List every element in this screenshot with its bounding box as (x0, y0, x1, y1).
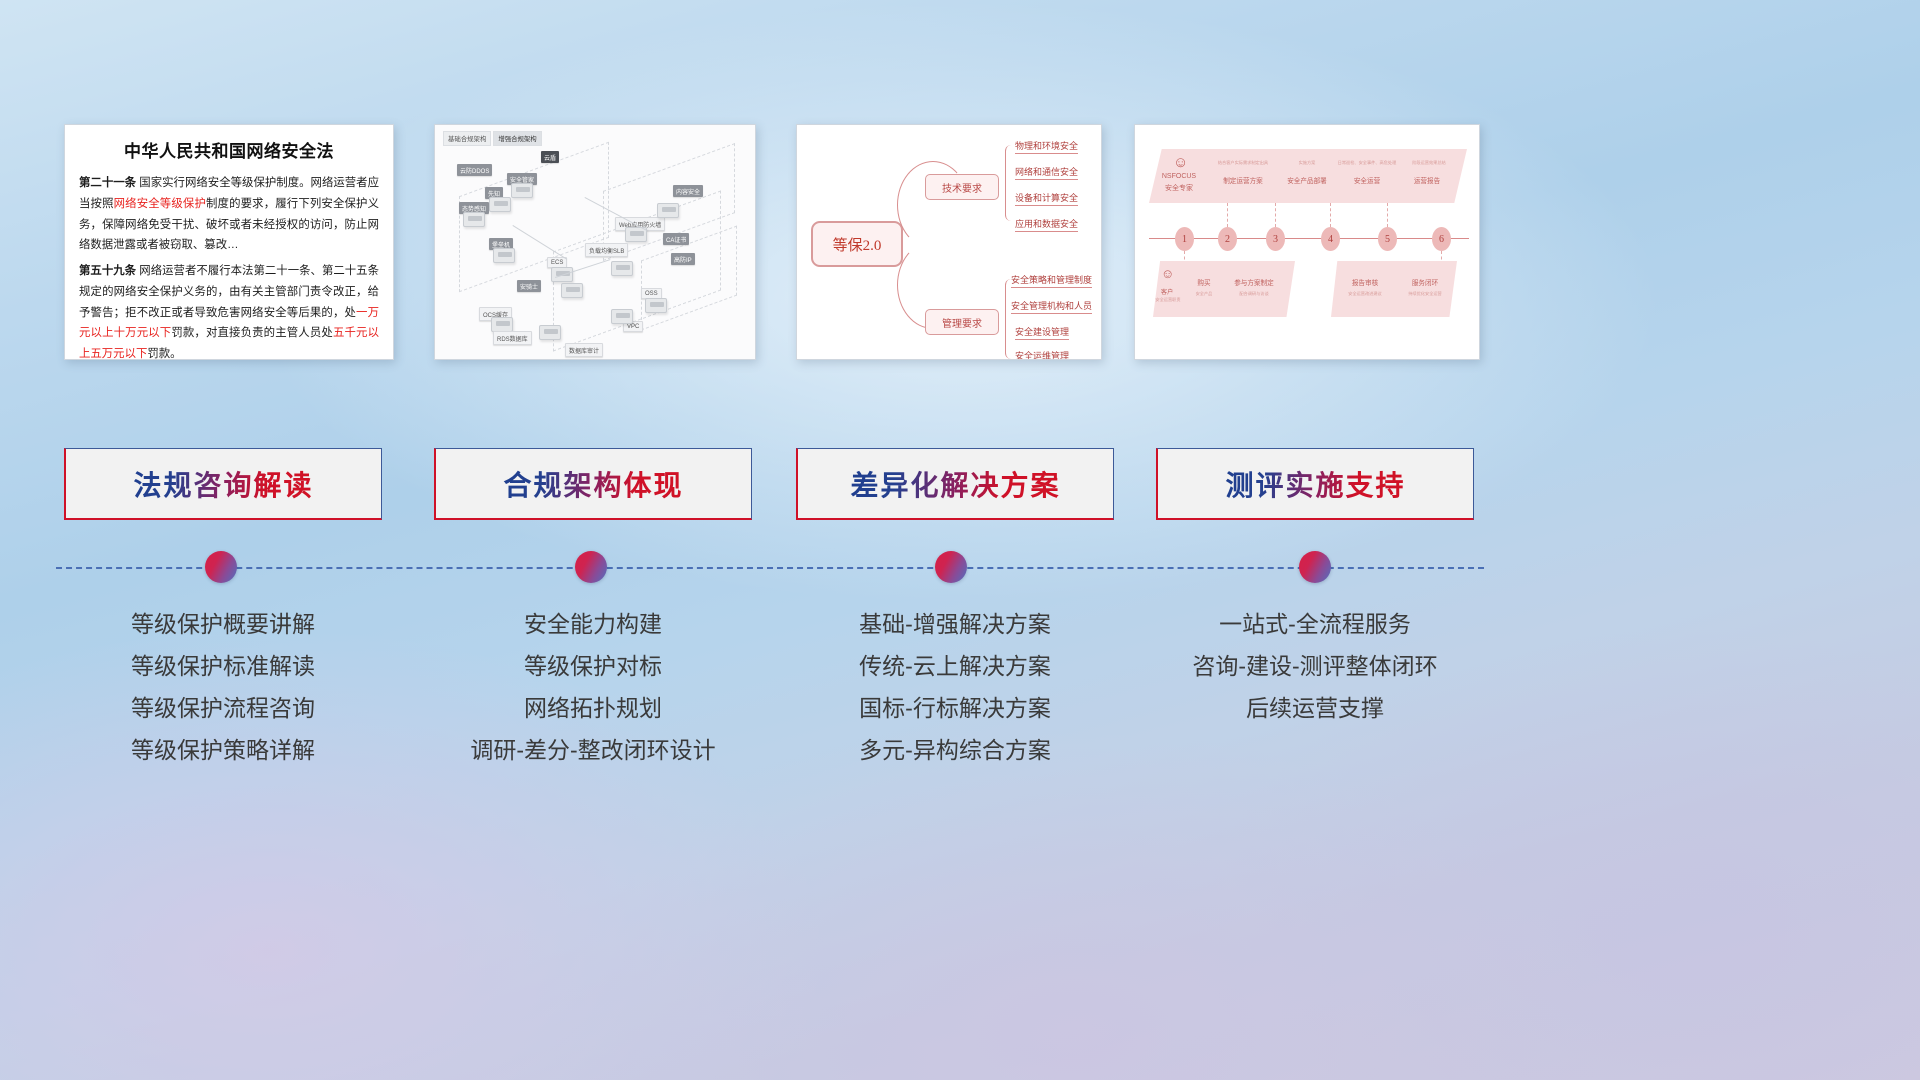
architecture-diagram: 基础合规架构 增强合规架构 云盾 安全管家 先知 态势感知 云防DDOS 堡垒机… (435, 125, 755, 359)
cube-oss (645, 298, 667, 313)
list-item: 调研-差分-整改闭环设计 (434, 730, 752, 772)
mindmap-leaf-construction-mgmt: 安全建设管理 (1015, 325, 1069, 340)
customer-person-icon: ☺ (1161, 267, 1174, 280)
list-evaluation-support: 一站式-全流程服务 咨询-建设-测评整体闭环 后续运营支撑 (1156, 604, 1474, 730)
nsfocus-brand: NSFOCUS (1151, 173, 1207, 180)
header-label-4: 测评实施支持 (1225, 464, 1405, 504)
law-article-59: 第五十九条 网络运营者不履行本法第二十一条、第二十五条规定的网络安全保护义务的，… (79, 261, 379, 360)
timeline-dot-4[interactable] (1299, 551, 1331, 583)
cube-anqishi (561, 283, 583, 298)
step-label-2: 参与方案制定 (1223, 277, 1285, 287)
mindmap-leaf-device-compute: 设备和计算安全 (1015, 191, 1078, 206)
list-item: 传统-云上解决方案 (796, 646, 1114, 688)
mindmap-leaf-ops-mgmt: 安全运维管理 (1015, 349, 1069, 360)
header-label-3: 差异化解决方案 (850, 464, 1060, 504)
header-box-evaluation-support[interactable]: 测评实施支持 (1156, 448, 1474, 520)
step-label-6: 服务闭环 (1401, 277, 1449, 287)
list-compliance-architecture: 安全能力构建 等级保护对标 网络拓扑规划 调研-差分-整改闭环设计 (434, 604, 752, 771)
list-item: 等级保护策略详解 (64, 730, 382, 772)
cube-security-butler (511, 183, 533, 198)
step-dot-1: 1 (1175, 227, 1194, 251)
list-item: 后续运营支撑 (1156, 688, 1474, 730)
header-box-compliance-architecture[interactable]: 合规架构体现 (434, 448, 752, 520)
card-mindmap-dengbao[interactable]: 等保2.0 技术要求 管理要求 物理和环境安全 网络和通信安全 设备和计算安全 … (796, 124, 1102, 360)
node-content-security: 内容安全 (673, 185, 703, 197)
mindmap-leaf-policy-system: 安全策略和管理制度 (1011, 273, 1092, 288)
list-item: 基础-增强解决方案 (796, 604, 1114, 646)
mindmap-leaf-org-personnel: 安全管理机构和人员 (1011, 299, 1092, 314)
mindmap-bracket-technical (1005, 145, 1015, 221)
card-nsfocus-timeline[interactable]: ☺ NSFOCUS 安全专家 结合客户实际需求制定出具 制定运营方案 实施方案 … (1134, 124, 1480, 360)
step-sub-2: 配合调研与访谈 (1221, 291, 1287, 297)
list-item: 等级保护概要讲解 (64, 604, 382, 646)
list-item: 等级保护流程咨询 (64, 688, 382, 730)
article-59-text-3: 罚款。 (147, 348, 181, 360)
top-sub-3: 日常巡检、安全事件、高危处理 (1333, 160, 1401, 166)
cube-vpc (611, 309, 633, 324)
top-sub-1: 结合客户实际需求制定出具 (1211, 160, 1275, 166)
node-database-audit: 数据库审计 (565, 343, 603, 357)
node-cloud-shield: 云盾 (541, 151, 559, 163)
mindmap-diagram: 等保2.0 技术要求 管理要求 物理和环境安全 网络和通信安全 设备和计算安全 … (797, 125, 1101, 359)
list-item: 咨询-建设-测评整体闭环 (1156, 646, 1474, 688)
header-label-1: 法规咨询解读 (133, 464, 313, 504)
mindmap-branch-management: 管理要求 (925, 309, 999, 335)
architecture-tabs: 基础合规架构 增强合规架构 (443, 131, 542, 146)
list-regulation-consulting: 等级保护概要讲解 等级保护标准解读 等级保护流程咨询 等级保护策略详解 (64, 604, 382, 771)
mindmap-leaf-physical-env: 物理和环境安全 (1015, 139, 1078, 154)
step-dot-5: 5 (1378, 227, 1397, 251)
section-headers: 法规咨询解读 合规架构体现 差异化解决方案 测评实施支持 (0, 448, 1920, 520)
tick-2 (1227, 203, 1228, 227)
nsfocus-bottom-right-banner (1331, 261, 1457, 317)
top-label-2: 安全产品部署 (1277, 175, 1337, 185)
node-ca-certificate: CA证书 (663, 233, 689, 245)
article-21-highlight: 网络安全等级保护 (114, 198, 206, 210)
list-item: 国标-行标解决方案 (796, 688, 1114, 730)
cube-slb (611, 261, 633, 276)
timeline-axis (1149, 238, 1469, 239)
cube-bastion-host (493, 248, 515, 263)
step-sub-1: 安全产品 (1183, 291, 1225, 297)
step-sub-5: 安全运营改进建议 (1333, 291, 1397, 297)
article-59-label: 第五十九条 (79, 265, 136, 277)
top-sub-2: 实施方案 (1279, 160, 1335, 166)
list-item: 多元-异构综合方案 (796, 730, 1114, 772)
card-cybersecurity-law[interactable]: 中华人民共和国网络安全法 第二十一条 国家实行网络安全等级保护制度。网络运营者应… (64, 124, 394, 360)
cube-ocs-cache (491, 317, 513, 332)
tick-5 (1387, 203, 1388, 227)
mindmap-branch-technical: 技术要求 (925, 174, 999, 200)
node-rds-database: RDS数据库 (493, 331, 532, 345)
list-differentiated-solutions: 基础-增强解决方案 传统-云上解决方案 国标-行标解决方案 多元-异构综合方案 (796, 604, 1114, 771)
list-item: 等级保护标准解读 (64, 646, 382, 688)
node-anqishi: 安骑士 (517, 280, 541, 292)
cube-xianzhi (489, 197, 511, 212)
timeline-dot-3[interactable] (935, 551, 967, 583)
customer-sub: 安全运营职责 (1141, 297, 1195, 303)
tab-basic-architecture[interactable]: 基础合规架构 (443, 131, 491, 146)
cube-content-security (657, 203, 679, 218)
node-anti-ddos-ip: 高防IP (671, 253, 695, 265)
tick-4 (1330, 203, 1331, 227)
list-item: 一站式-全流程服务 (1156, 604, 1474, 646)
header-box-regulation-consulting[interactable]: 法规咨询解读 (64, 448, 382, 520)
tick-3 (1275, 203, 1276, 227)
timeline-dot-1[interactable] (205, 551, 237, 583)
thumbnail-row: 中华人民共和国网络安全法 第二十一条 国家实行网络安全等级保护制度。网络运营者应… (0, 124, 1920, 364)
nsfocus-diagram: ☺ NSFOCUS 安全专家 结合客户实际需求制定出具 制定运营方案 实施方案 … (1135, 125, 1479, 359)
list-item: 安全能力构建 (434, 604, 752, 646)
top-label-4: 运营报告 (1399, 175, 1455, 185)
header-box-differentiated-solutions[interactable]: 差异化解决方案 (796, 448, 1114, 520)
node-anti-ddos: 云防DDOS (457, 164, 492, 176)
top-label-1: 制定运营方案 (1211, 175, 1275, 185)
mindmap-bracket-management (1005, 279, 1015, 359)
mindmap-leaf-app-data: 应用和数据安全 (1015, 217, 1078, 232)
card-compliance-architecture[interactable]: 基础合规架构 增强合规架构 云盾 安全管家 先知 态势感知 云防DDOS 堡垒机… (434, 124, 756, 360)
law-article-21: 第二十一条 国家实行网络安全等级保护制度。网络运营者应当按照网络安全等级保护制度… (79, 173, 379, 256)
step-dot-6: 6 (1432, 227, 1451, 251)
mindmap-leaf-network-comm: 网络和通信安全 (1015, 165, 1078, 180)
step-label-5: 报告审核 (1341, 277, 1389, 287)
law-document: 中华人民共和国网络安全法 第二十一条 国家实行网络安全等级保护制度。网络运营者应… (65, 125, 393, 360)
top-label-3: 安全运营 (1339, 175, 1395, 185)
cube-rds (539, 325, 561, 340)
law-title: 中华人民共和国网络安全法 (79, 137, 379, 162)
timeline-dot-2[interactable] (575, 551, 607, 583)
header-label-2: 合规架构体现 (503, 464, 683, 504)
article-59-text-2: 罚款，对直接负责的主管人员处 (171, 327, 333, 339)
step-dot-3: 3 (1266, 227, 1285, 251)
tab-enhanced-architecture[interactable]: 增强合规架构 (493, 131, 541, 146)
step-dot-4: 4 (1321, 227, 1340, 251)
cube-situational-awareness (463, 212, 485, 227)
expert-person-icon: ☺ (1173, 155, 1188, 170)
step-dot-2: 2 (1218, 227, 1237, 251)
nsfocus-brand-sub: 安全专家 (1151, 183, 1207, 193)
list-item: 网络拓扑规划 (434, 688, 752, 730)
article-21-label: 第二十一条 (79, 177, 136, 189)
mindmap-root-node: 等保2.0 (811, 221, 903, 267)
list-item: 等级保护对标 (434, 646, 752, 688)
timeline-dashed-line (56, 567, 1484, 569)
step-sub-6: 持续优化安全运营 (1393, 291, 1457, 297)
node-slb: 负载均衡SLB (585, 243, 628, 257)
top-sub-4: 阶段运营效果总结 (1397, 160, 1461, 166)
step-label-1: 购买 (1187, 277, 1221, 287)
